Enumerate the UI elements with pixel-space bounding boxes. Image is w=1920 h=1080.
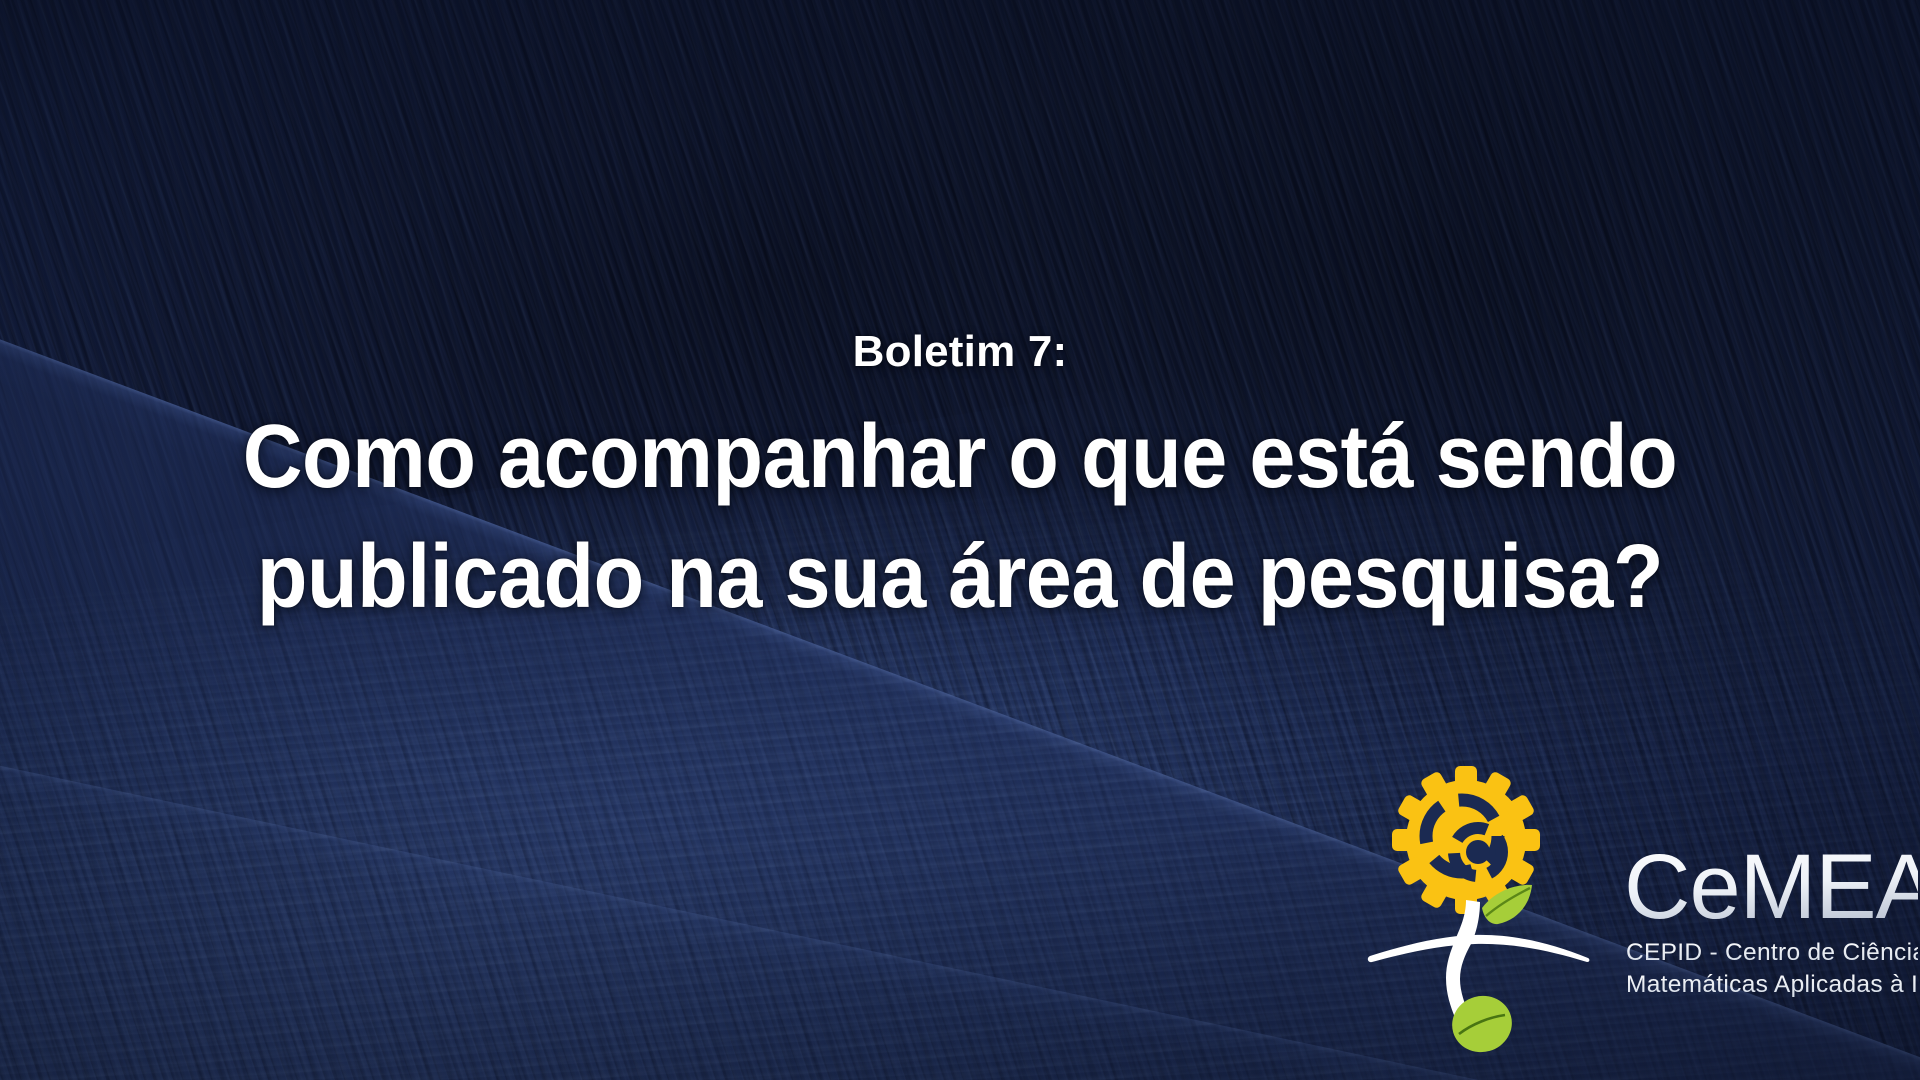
logo-wordmark: CeMEAI [1624,836,1918,938]
headline-line-1: Como acompanhar o que está sendo [178,398,1742,518]
gear-flower-mark [1368,766,1590,1059]
headline-line-2: publicado na sua área de pesquisa? [178,518,1742,638]
bulletin-number-label: Boletim 7: [0,330,1920,374]
title-block: Boletim 7: Como acompanhar o que está se… [0,330,1920,637]
page-title: Como acompanhar o que está sendo publica… [77,398,1843,637]
logo-tagline-line2: Matemáticas Aplicadas à Indústria [1626,971,1918,998]
slide-canvas: Boletim 7: Como acompanhar o que está se… [0,0,1920,1080]
cemeai-logo: CeMEAI CEPID - Centro de Ciências Matemá… [1362,752,1918,1072]
logo-tagline-line1: CEPID - Centro de Ciências [1626,939,1918,966]
gear-center-dot [1466,840,1490,864]
ground-line-shape [1368,935,1590,962]
